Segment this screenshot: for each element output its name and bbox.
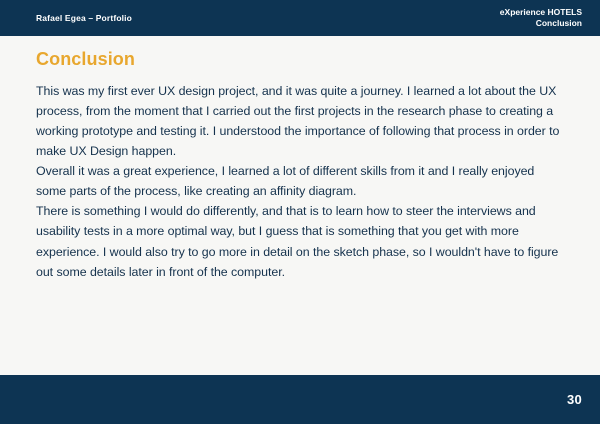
portfolio-author-label: Rafael Egea – Portfolio	[36, 13, 132, 23]
page-title: Conclusion	[36, 50, 564, 70]
slide-content: Conclusion This was my first ever UX des…	[0, 36, 600, 375]
slide-header-bar: Rafael Egea – Portfolio eXperience HOTEL…	[0, 0, 600, 36]
project-title-label: eXperience HOTELS	[500, 7, 582, 18]
paragraph-2: Overall it was a great experience, I lea…	[36, 161, 564, 201]
paragraph-1: This was my first ever UX design project…	[36, 81, 564, 161]
project-section-label: Conclusion	[500, 18, 582, 29]
project-header: eXperience HOTELS Conclusion	[500, 7, 582, 29]
slide: Rafael Egea – Portfolio eXperience HOTEL…	[0, 0, 600, 424]
slide-footer-bar: 30	[0, 375, 600, 424]
page-number: 30	[567, 392, 582, 407]
paragraph-3: There is something I would do differentl…	[36, 201, 564, 281]
conclusion-body: This was my first ever UX design project…	[36, 81, 564, 282]
